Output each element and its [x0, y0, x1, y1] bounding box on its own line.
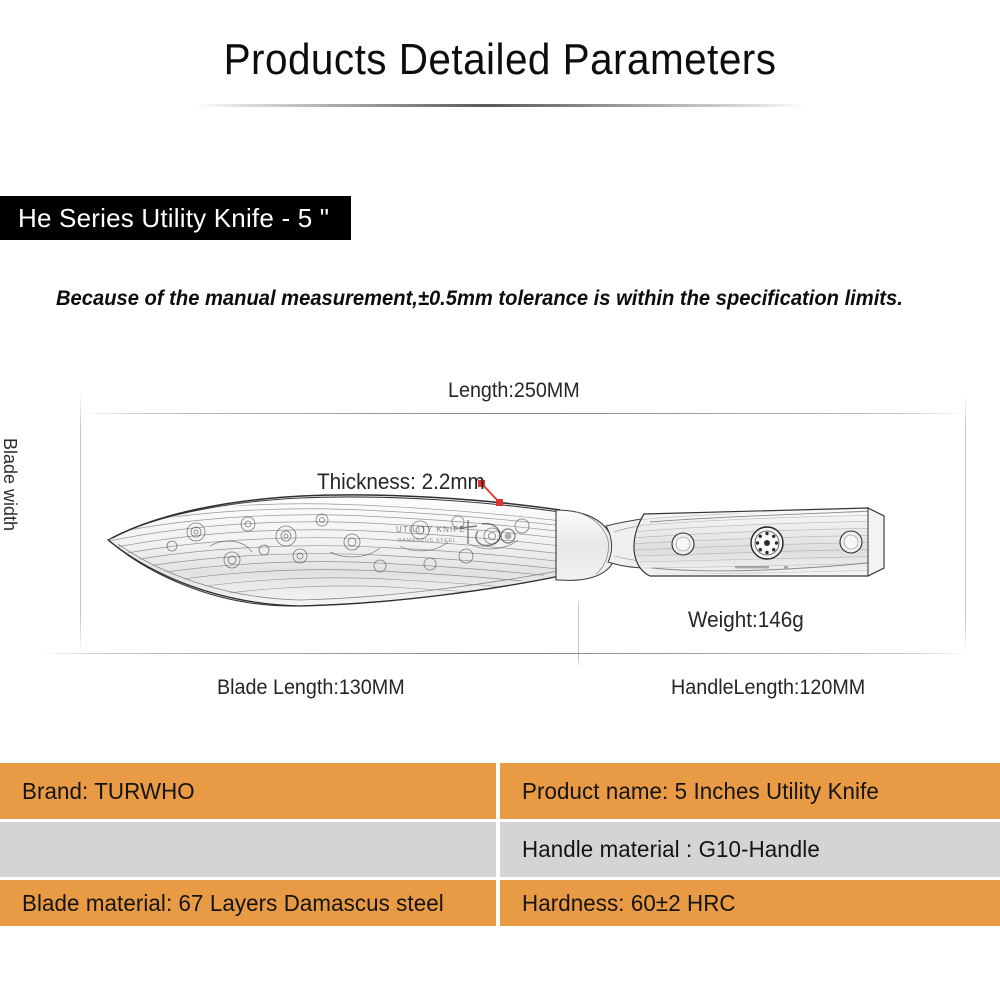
- table-row: Handle material : G10-Handle: [0, 822, 1000, 877]
- specification-table: Brand: TURWHO Product name: 5 Inches Uti…: [0, 763, 1000, 929]
- page-title: Products Detailed Parameters: [40, 34, 960, 86]
- spec-cell-blade-material: Blade material: 67 Layers Damascus steel: [0, 880, 496, 926]
- dimension-label-weight: Weight:146g: [688, 607, 804, 632]
- spec-value-brand: Brand: TURWHO: [22, 778, 195, 805]
- table-row: Blade material: 67 Layers Damascus steel…: [0, 880, 1000, 926]
- dimension-label-blade-width: Blade width 29MM: [0, 438, 20, 568]
- spec-cell-brand: Brand: TURWHO: [0, 763, 496, 819]
- blade-width-line-1: Blade width: [0, 438, 20, 568]
- spec-value-handle-material: Handle material : G10-Handle: [522, 836, 820, 863]
- spec-cell-hardness: Hardness: 60±2 HRC: [500, 880, 1000, 926]
- spec-cell-empty: [0, 822, 496, 877]
- spec-value-blade-material: Blade material: 67 Layers Damascus steel: [22, 890, 444, 917]
- title-divider: [195, 104, 805, 107]
- tolerance-note: Because of the manual measurement,±0.5mm…: [56, 286, 903, 312]
- dimension-label-length: Length:250MM: [448, 378, 580, 403]
- dimension-label-thickness: Thickness: 2.2mm: [317, 469, 485, 494]
- spec-cell-handle-material: Handle material : G10-Handle: [500, 822, 1000, 877]
- dimension-label-blade-length: Blade Length:130MM: [217, 675, 405, 700]
- table-row: Brand: TURWHO Product name: 5 Inches Uti…: [0, 763, 1000, 819]
- series-banner: He Series Utility Knife - 5 ": [0, 196, 351, 240]
- spec-cell-product-name: Product name: 5 Inches Utility Knife: [500, 763, 1000, 819]
- dimension-label-handle-length: HandleLength:120MM: [671, 675, 865, 700]
- product-diagram: UTILITY KNIFE DAMASCUS STEEL: [0, 360, 1000, 740]
- spec-value-product-name: Product name: 5 Inches Utility Knife: [522, 778, 879, 805]
- spec-value-hardness: Hardness: 60±2 HRC: [522, 890, 736, 917]
